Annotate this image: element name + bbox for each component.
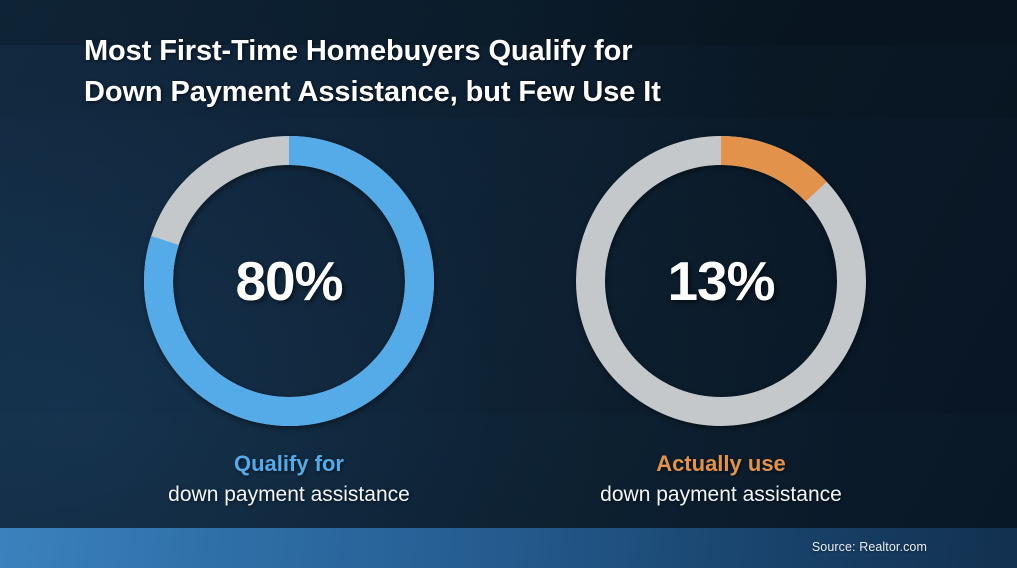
source-attribution: Source: Realtor.com — [812, 540, 927, 554]
chart-caption-sub-qualify: down payment assistance — [73, 479, 505, 510]
chart-block-actually-use: 13% Actually use down payment assistance — [505, 126, 937, 506]
chart-block-qualify: 80% Qualify for down payment assistance — [73, 126, 505, 506]
page-title-line-1: Most First-Time Homebuyers Qualify for — [84, 31, 884, 72]
donut-chart-actually-use: 13% — [576, 136, 866, 426]
charts-row: 80% Qualify for down payment assistance … — [0, 126, 1017, 506]
page-title-line-2: Down Payment Assistance, but Few Use It — [84, 72, 884, 113]
chart-caption-actually-use: Actually use down payment assistance — [505, 448, 937, 510]
chart-caption-qualify: Qualify for down payment assistance — [73, 448, 505, 510]
donut-center-value-actually-use: 13% — [576, 136, 866, 426]
chart-caption-strong-actually-use: Actually use — [505, 448, 937, 479]
donut-chart-qualify: 80% — [144, 136, 434, 426]
footer-bar: Source: Realtor.com — [0, 528, 1017, 568]
infographic-slide: Most First-Time Homebuyers Qualify for D… — [0, 0, 1017, 568]
chart-caption-strong-qualify: Qualify for — [73, 448, 505, 479]
donut-center-value-qualify: 80% — [144, 136, 434, 426]
page-title: Most First-Time Homebuyers Qualify for D… — [84, 31, 884, 113]
chart-caption-sub-actually-use: down payment assistance — [505, 479, 937, 510]
